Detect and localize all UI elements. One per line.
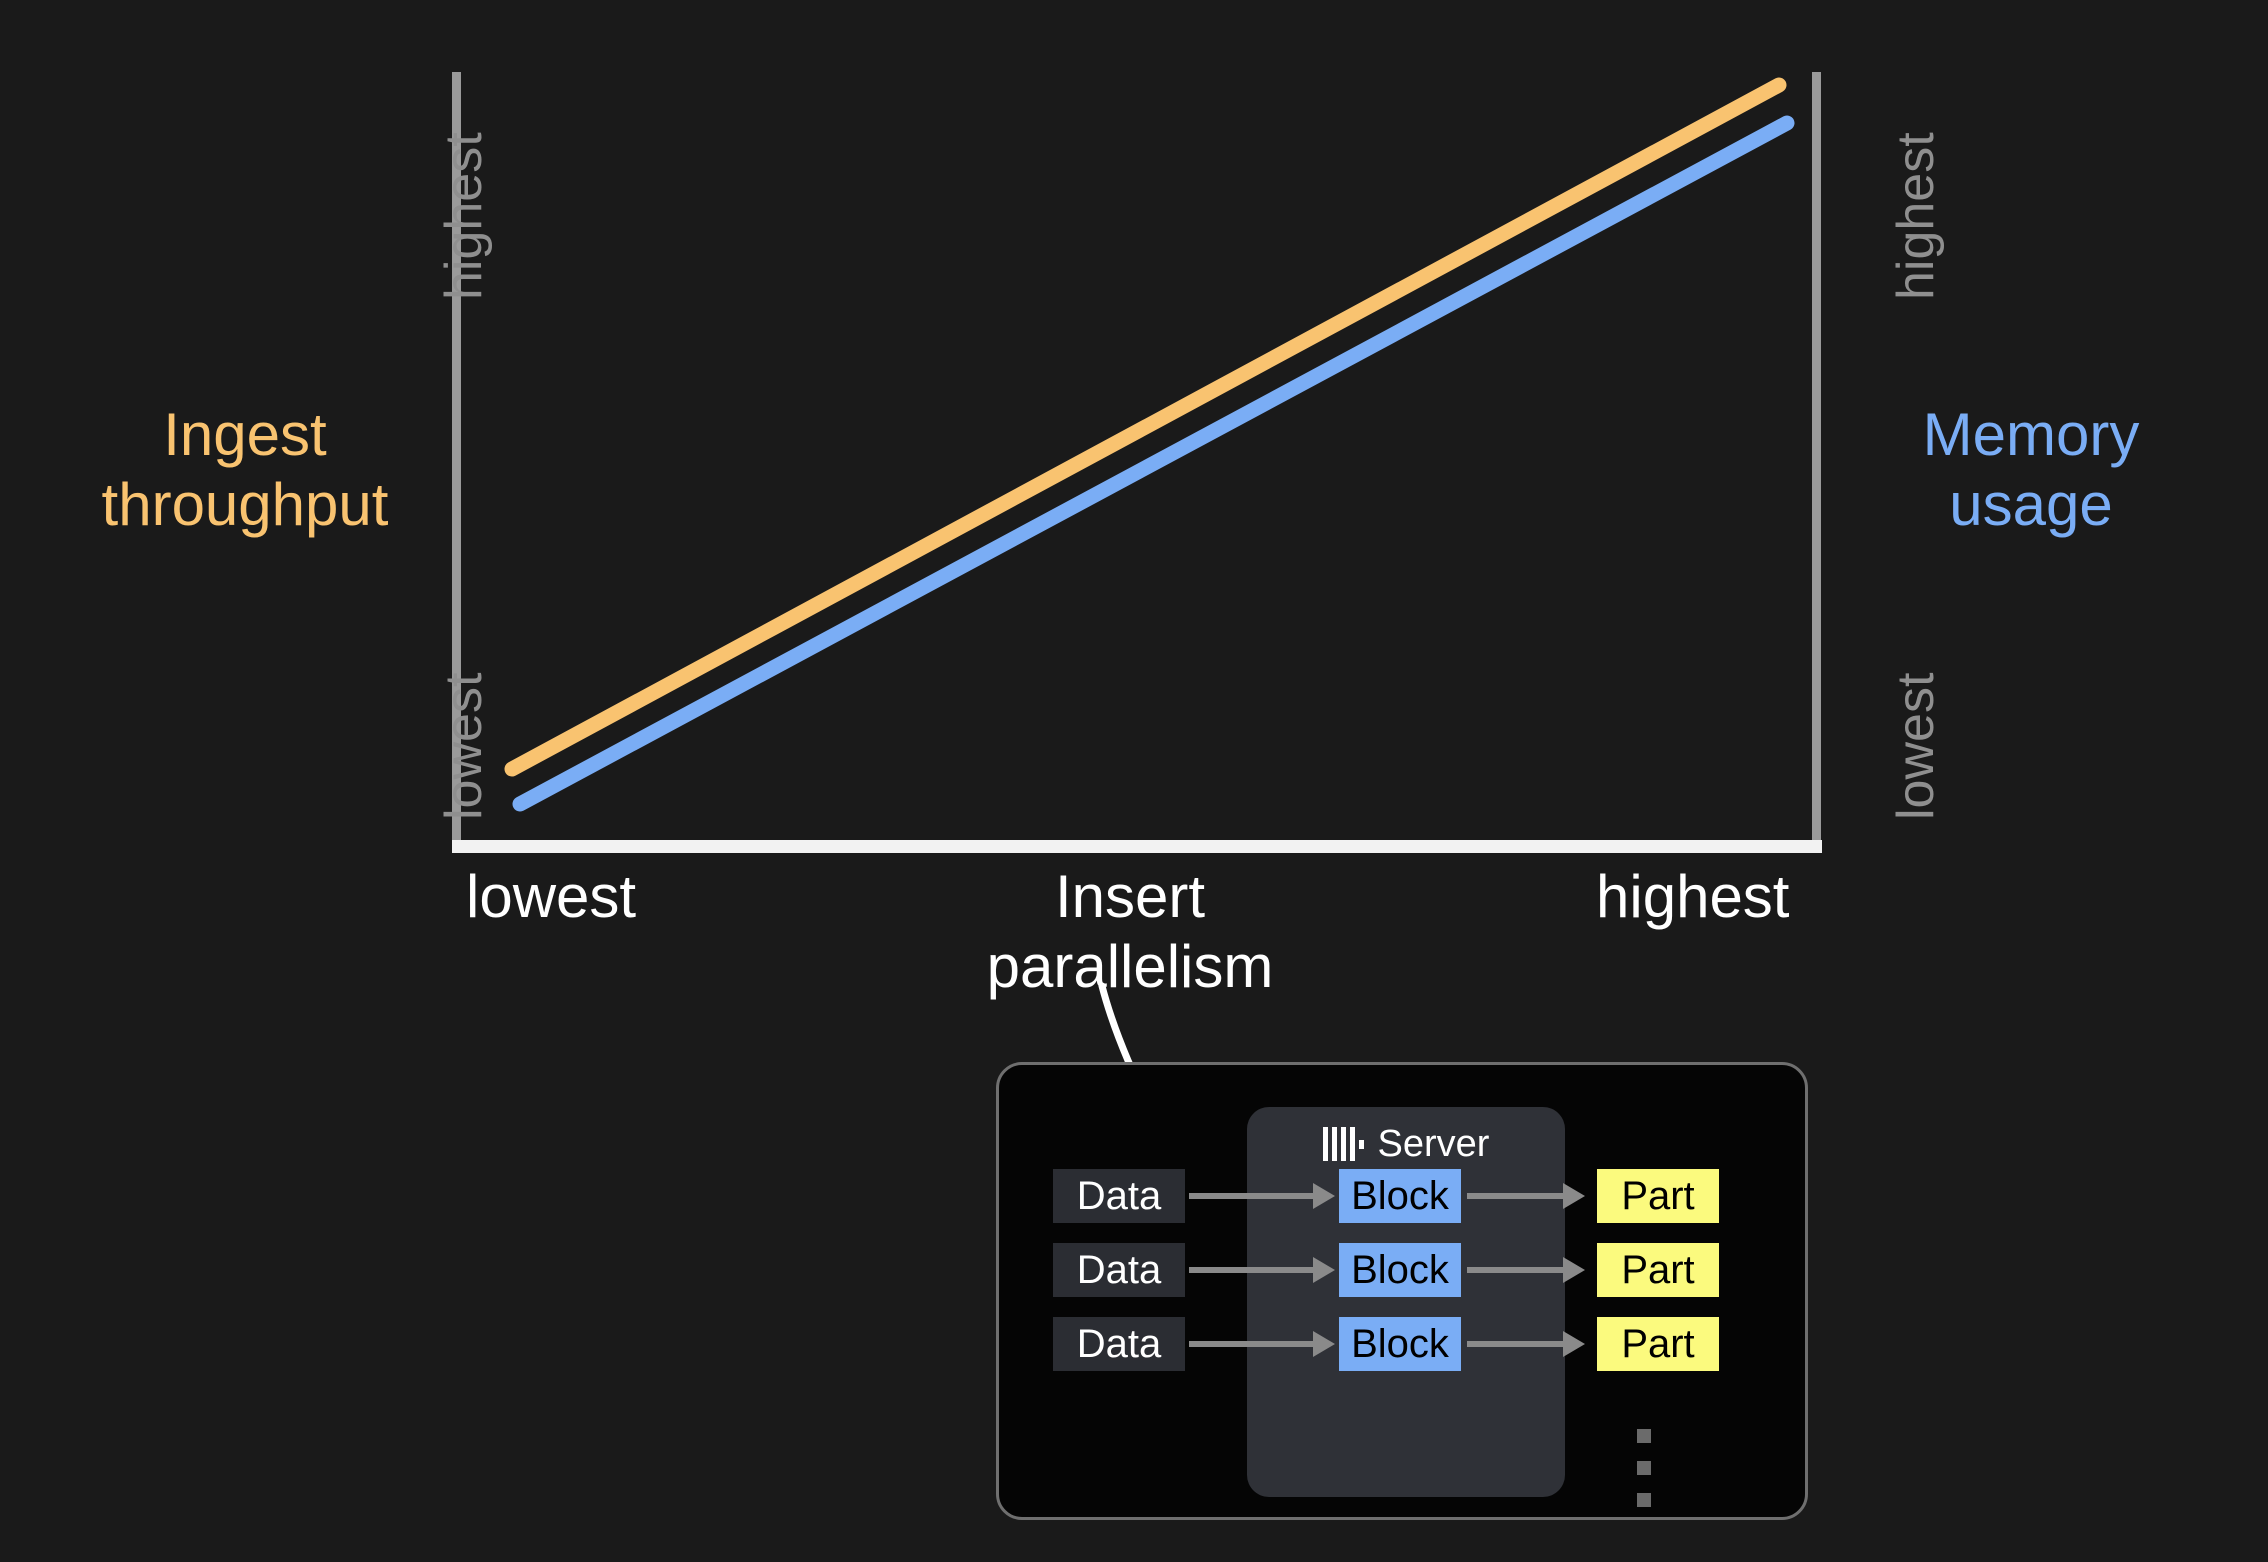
data-box: Data xyxy=(1053,1317,1185,1371)
server-header: Server xyxy=(1247,1125,1565,1163)
data-to-block-connector xyxy=(1189,1341,1315,1347)
data-box: Data xyxy=(1053,1169,1185,1223)
vertical-ellipsis-icon xyxy=(1637,1429,1651,1525)
block-to-part-connector xyxy=(1467,1341,1565,1347)
part-box: Part xyxy=(1597,1317,1719,1371)
server-container: Server xyxy=(1247,1107,1565,1497)
part-box: Part xyxy=(1597,1169,1719,1223)
data-box: Data xyxy=(1053,1243,1185,1297)
pipeline-row: Data Block Part xyxy=(999,1243,1805,1297)
series-line-ingest-throughput xyxy=(512,85,1779,769)
block-box: Block xyxy=(1339,1243,1461,1297)
right-axis-tick-lowest: lowest xyxy=(1886,673,1946,820)
series-line-memory-usage xyxy=(520,123,1787,804)
pipeline-row: Data Block Part xyxy=(999,1317,1805,1371)
left-axis-tick-lowest: lowest xyxy=(434,673,494,820)
right-axis-title: Memory usage xyxy=(1846,400,2216,539)
left-axis-tick-highest: highest xyxy=(434,132,494,300)
data-to-block-connector xyxy=(1189,1193,1315,1199)
block-to-part-connector xyxy=(1467,1193,1565,1199)
pipeline-row: Data Block Part xyxy=(999,1169,1805,1223)
block-box: Block xyxy=(1339,1317,1461,1371)
server-label: Server xyxy=(1378,1125,1490,1163)
slide-canvas: highest lowest highest lowest Ingest thr… xyxy=(0,0,2268,1562)
ingest-pipeline-diagram: Server Data Block Part Data Block Part D… xyxy=(996,1062,1808,1520)
x-axis-tick-highest: highest xyxy=(1596,862,1789,931)
chart-area: highest lowest highest lowest Ingest thr… xyxy=(0,0,2268,1010)
left-axis-title: Ingest throughput xyxy=(60,400,430,539)
part-box: Part xyxy=(1597,1243,1719,1297)
right-axis-tick-highest: highest xyxy=(1886,132,1946,300)
clickhouse-logo-icon xyxy=(1323,1127,1364,1161)
data-to-block-connector xyxy=(1189,1267,1315,1273)
block-box: Block xyxy=(1339,1169,1461,1223)
block-to-part-connector xyxy=(1467,1267,1565,1273)
x-axis-tick-lowest: lowest xyxy=(466,862,636,931)
